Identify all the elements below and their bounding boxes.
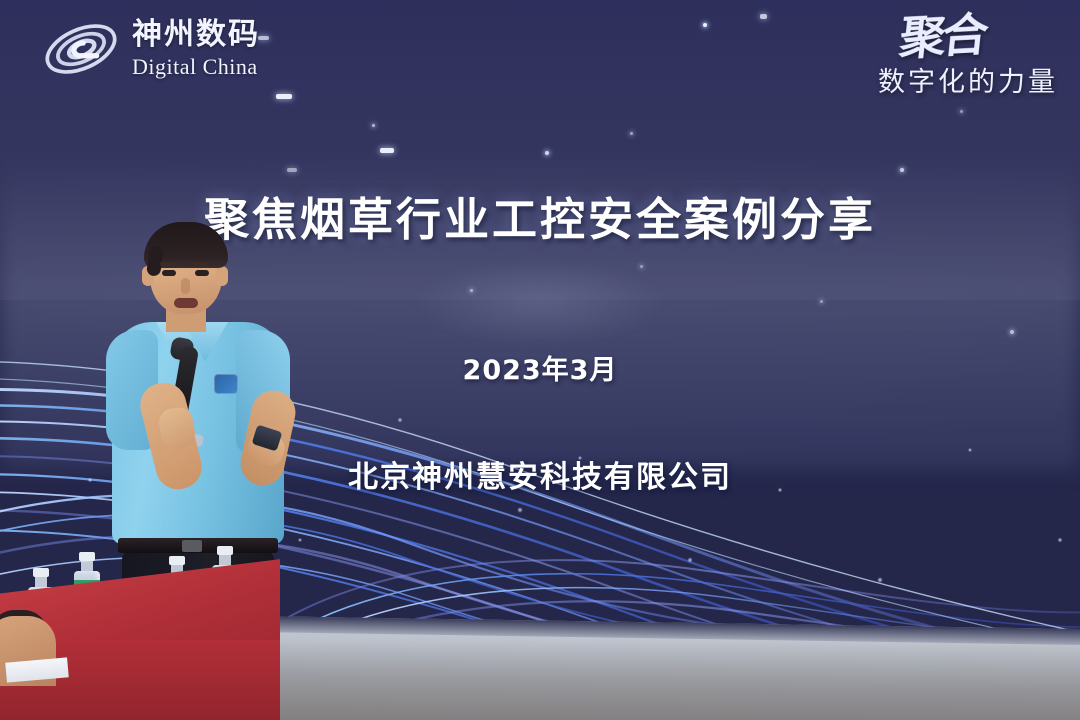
speaker-mouth <box>174 298 198 308</box>
speaker-eyebrow-left <box>160 262 177 266</box>
digital-china-logo: 神州数码 Digital China <box>40 18 260 80</box>
bottle-cap <box>33 568 49 577</box>
speaker-hair <box>144 222 228 268</box>
brand-name-en: Digital China <box>132 56 260 78</box>
bottle-neck <box>219 555 231 565</box>
swirl-logo-icon <box>40 18 122 80</box>
speaker-nose <box>181 278 190 294</box>
event-logo-sub: 数字化的力量 <box>878 60 1058 99</box>
digital-china-wordmark: 神州数码 Digital China <box>132 20 260 78</box>
bottle-neck <box>81 561 93 571</box>
background-texture <box>390 250 690 355</box>
speaker-ear-right <box>216 266 228 286</box>
event-logo: 聚合 数字化的力量 <box>878 16 1058 99</box>
speaker-eye-right <box>195 270 209 276</box>
speaker-eye-left <box>162 270 176 276</box>
speaker-eyebrow-right <box>193 262 210 266</box>
bottle-cap <box>217 546 233 555</box>
bottle-cap <box>79 552 95 561</box>
event-logo-main: 聚合 <box>875 13 986 61</box>
bottle-neck <box>35 577 47 587</box>
brand-name-cn: 神州数码 <box>132 20 260 50</box>
screenshot-root: 神州数码 Digital China 聚合 数字化的力量 聚焦烟草行业工控安全案… <box>0 0 1080 720</box>
speaker-chest-logo <box>214 374 238 394</box>
bottle-cap <box>169 556 185 565</box>
speaker-belt-buckle <box>182 540 202 552</box>
